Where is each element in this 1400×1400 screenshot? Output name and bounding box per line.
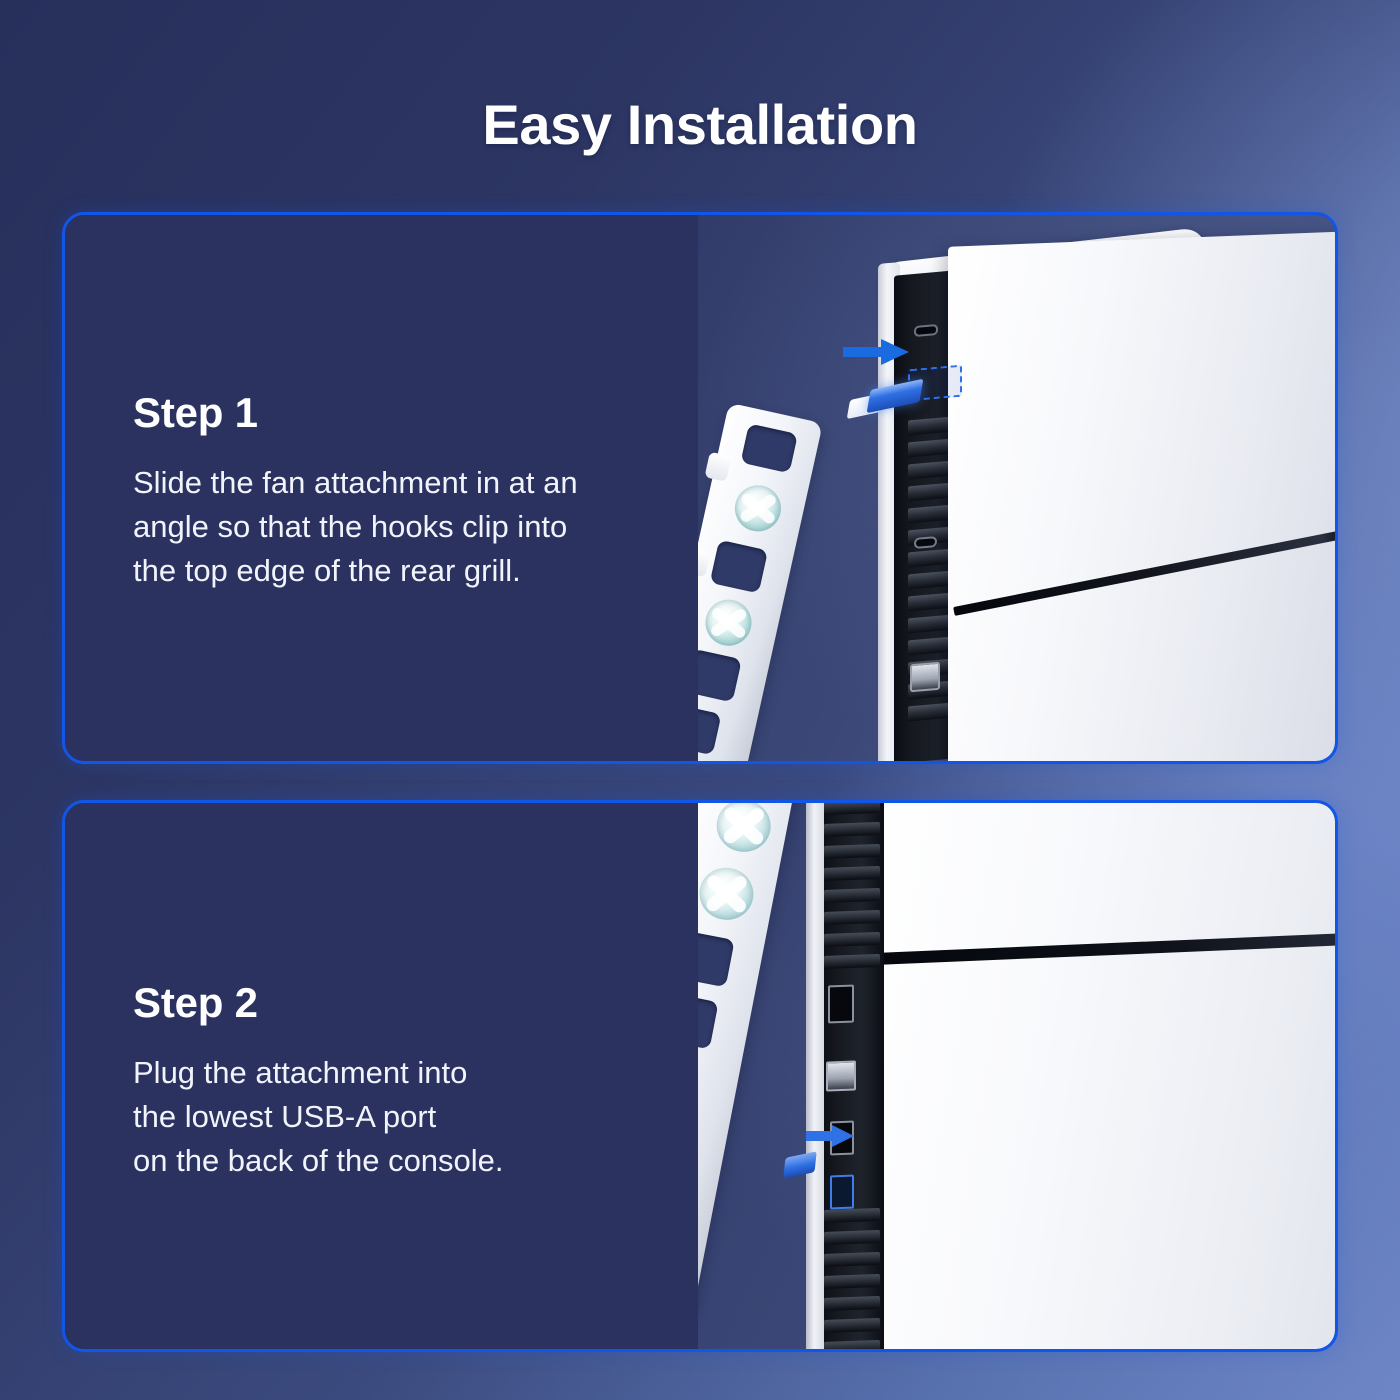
step-card-2: Step 2 Plug the attachment into the lowe…	[62, 800, 1338, 1352]
usb-a-port-lowest-icon	[830, 1175, 854, 1210]
strip-notch	[698, 547, 710, 578]
ps5-console-illustration-1	[698, 215, 1335, 761]
console-front-panel	[948, 231, 1335, 761]
ps5-console-illustration-2	[698, 803, 1335, 1349]
console-side-lip	[806, 803, 824, 1349]
direction-arrow-icon	[843, 339, 909, 365]
strip-cutout	[698, 704, 721, 755]
poster-root: Easy Installation Step 1 Slide the fan a…	[0, 0, 1400, 1400]
step-card-1: Step 1 Slide the fan attachment in at an…	[62, 212, 1338, 764]
fan-attachment-part	[698, 403, 823, 761]
fan-blade-opening	[731, 481, 786, 536]
fan-attachment-part	[698, 803, 795, 1317]
strip-cutout	[698, 930, 735, 987]
step-1-body: Slide the fan attachment in at an angle …	[133, 461, 650, 593]
step-1-illustration	[698, 215, 1335, 761]
fan-blade-opening	[698, 863, 758, 924]
strip-cutout	[740, 423, 797, 473]
ethernet-port-icon	[910, 662, 940, 693]
strip-cutout	[710, 540, 768, 594]
step-2-heading: Step 2	[133, 979, 650, 1027]
power-port-icon	[914, 324, 938, 337]
strip-cutout	[698, 992, 719, 1049]
strip-cutout	[698, 649, 742, 703]
step-2-illustration	[698, 803, 1335, 1349]
step-2-text-panel: Step 2 Plug the attachment into the lowe…	[65, 803, 698, 1349]
fan-blade-opening	[701, 595, 756, 650]
step-1-heading: Step 1	[133, 389, 650, 437]
direction-arrow-icon	[806, 1125, 854, 1147]
page-title: Easy Installation	[0, 92, 1400, 157]
ethernet-port-icon	[826, 1060, 856, 1091]
fan-blade-opening	[712, 803, 775, 857]
step-2-body: Plug the attachment into the lowest USB-…	[133, 1051, 650, 1183]
strip-notch	[704, 452, 731, 482]
console-front-panel	[876, 803, 1335, 1349]
hdmi-port-icon	[828, 985, 854, 1024]
step-1-text-panel: Step 1 Slide the fan attachment in at an…	[65, 215, 698, 761]
